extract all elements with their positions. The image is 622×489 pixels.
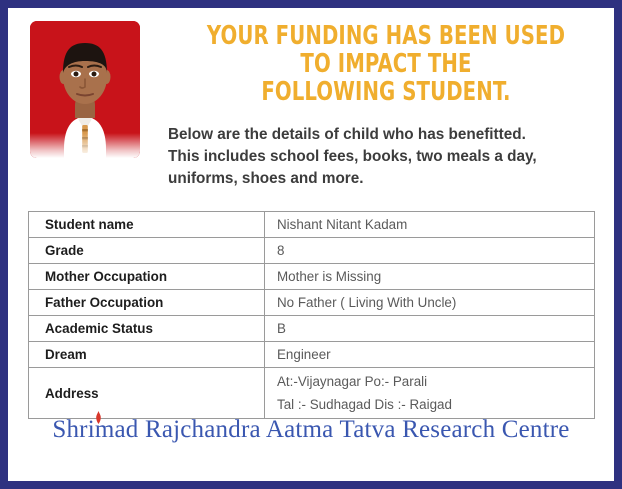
row-label: Mother Occupation xyxy=(29,264,265,290)
headline-block: YOUR FUNDING HAS BEEN USED TO IMPACT THE… xyxy=(168,22,604,190)
subtitle-text: Below are the details of child who has b… xyxy=(168,106,604,190)
address-line-1: At:-Vijaynagar Po:- Parali xyxy=(277,370,584,393)
row-value: 8 xyxy=(265,238,595,264)
table-row: Grade 8 xyxy=(29,238,595,264)
student-portrait-image xyxy=(30,21,140,158)
organization-name-text: Shrimad Rajchandra Aatma Tatva Research … xyxy=(52,416,569,443)
table-row: Mother Occupation Mother is Missing xyxy=(29,264,595,290)
row-value: Nishant Nitant Kadam xyxy=(265,212,595,238)
organization-name: Shrimad Rajchandra Aatma Tatva Research … xyxy=(52,416,569,444)
table-row-address: Address At:-Vijaynagar Po:- Parali Tal :… xyxy=(29,368,595,419)
flame-icon xyxy=(94,411,103,424)
table-row: Student name Nishant Nitant Kadam xyxy=(29,212,595,238)
row-value: Mother is Missing xyxy=(265,264,595,290)
address-line-2: Tal :- Sudhagad Dis :- Raigad xyxy=(277,393,584,416)
impact-report-card: YOUR FUNDING HAS BEEN USED TO IMPACT THE… xyxy=(0,0,622,489)
row-value: Engineer xyxy=(265,342,595,368)
table-row: Dream Engineer xyxy=(29,342,595,368)
student-details-table: Student name Nishant Nitant Kadam Grade … xyxy=(28,211,595,419)
row-label: Dream xyxy=(29,342,265,368)
row-value: At:-Vijaynagar Po:- Parali Tal :- Sudhag… xyxy=(265,368,595,419)
row-value: B xyxy=(265,316,595,342)
footer: Shrimad Rajchandra Aatma Tatva Research … xyxy=(8,416,614,444)
page-title: YOUR FUNDING HAS BEEN USED TO IMPACT THE… xyxy=(199,22,574,106)
row-label: Student name xyxy=(29,212,265,238)
table-row: Academic Status B xyxy=(29,316,595,342)
row-label: Grade xyxy=(29,238,265,264)
row-value: No Father ( Living With Uncle) xyxy=(265,290,595,316)
row-label: Father Occupation xyxy=(29,290,265,316)
header-section: YOUR FUNDING HAS BEEN USED TO IMPACT THE… xyxy=(8,8,614,200)
row-label: Academic Status xyxy=(29,316,265,342)
table-row: Father Occupation No Father ( Living Wit… xyxy=(29,290,595,316)
row-label: Address xyxy=(29,368,265,419)
student-photo xyxy=(30,21,140,158)
